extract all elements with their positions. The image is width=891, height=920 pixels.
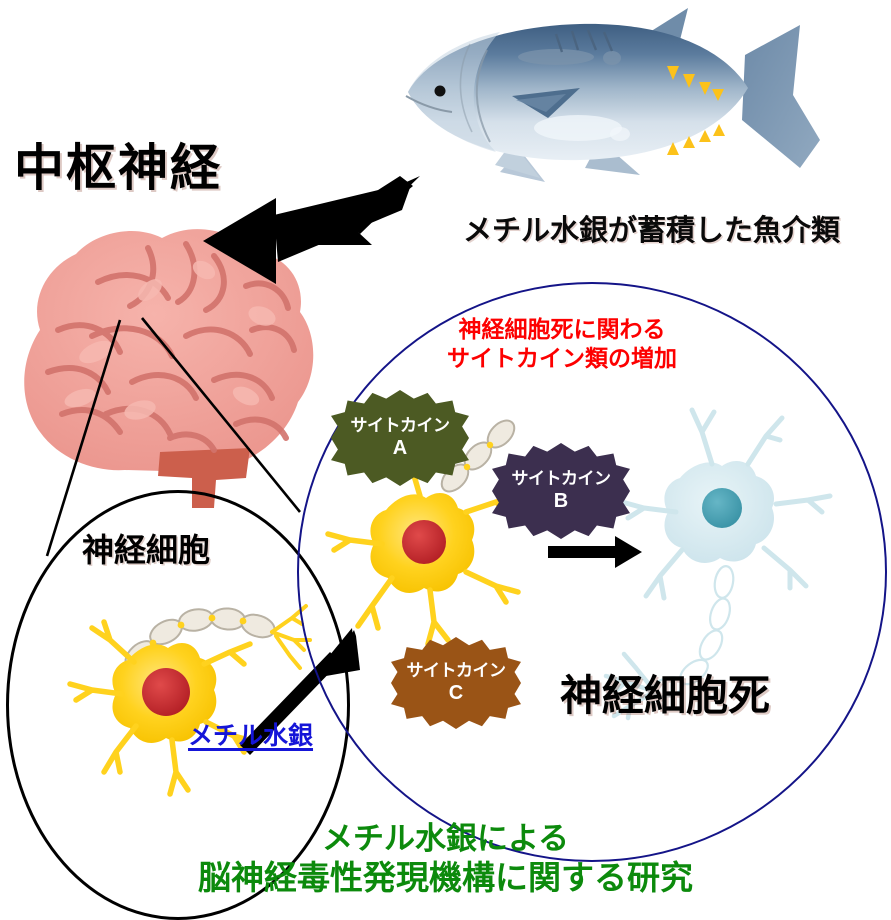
label-neuronal-cell-death: 神経細胞死 <box>560 662 770 723</box>
study-title: メチル水銀による 脳神経毒性発現機構に関する研究 <box>0 820 891 898</box>
annotation-line-1: 神経細胞死に関わる <box>447 315 677 344</box>
annotation-cytokine-increase: 神経細胞死に関わる サイトカイン類の増加 <box>447 315 677 373</box>
badge-cytokine-a-letter: A <box>393 438 407 459</box>
badge-cytokine-b-letter: B <box>554 491 568 512</box>
label-nerve-cell: 神経細胞 <box>82 525 210 571</box>
badge-cytokine-a: サイトカイン A <box>331 390 469 486</box>
annotation-line-2: サイトカイン類の増加 <box>447 344 677 373</box>
tuna-fish <box>406 8 820 182</box>
figure-canvas: 中枢神経 メチル水銀が蓄積した魚介類 神経細胞死に関わる サイトカイン類の増加 … <box>0 0 891 919</box>
badge-cytokine-c: サイトカイン C <box>391 637 521 729</box>
badge-cytokine-c-letter: C <box>449 683 463 704</box>
badge-cytokine-b: サイトカイン B <box>492 443 630 539</box>
badge-cytokine-a-name: サイトカイン <box>351 417 450 435</box>
badge-cytokine-c-name: サイトカイン <box>407 662 506 680</box>
label-methylmercury: メチル水銀 <box>188 716 313 752</box>
caption-contaminated-seafood: メチル水銀が蓄積した魚介類 <box>463 207 840 249</box>
page-title-central-nervous-system: 中枢神経 <box>14 128 222 200</box>
study-title-line-2: 脳神経毒性発現機構に関する研究 <box>0 858 891 898</box>
study-title-line-1: メチル水銀による <box>0 820 891 858</box>
badge-cytokine-b-name: サイトカイン <box>512 470 611 488</box>
